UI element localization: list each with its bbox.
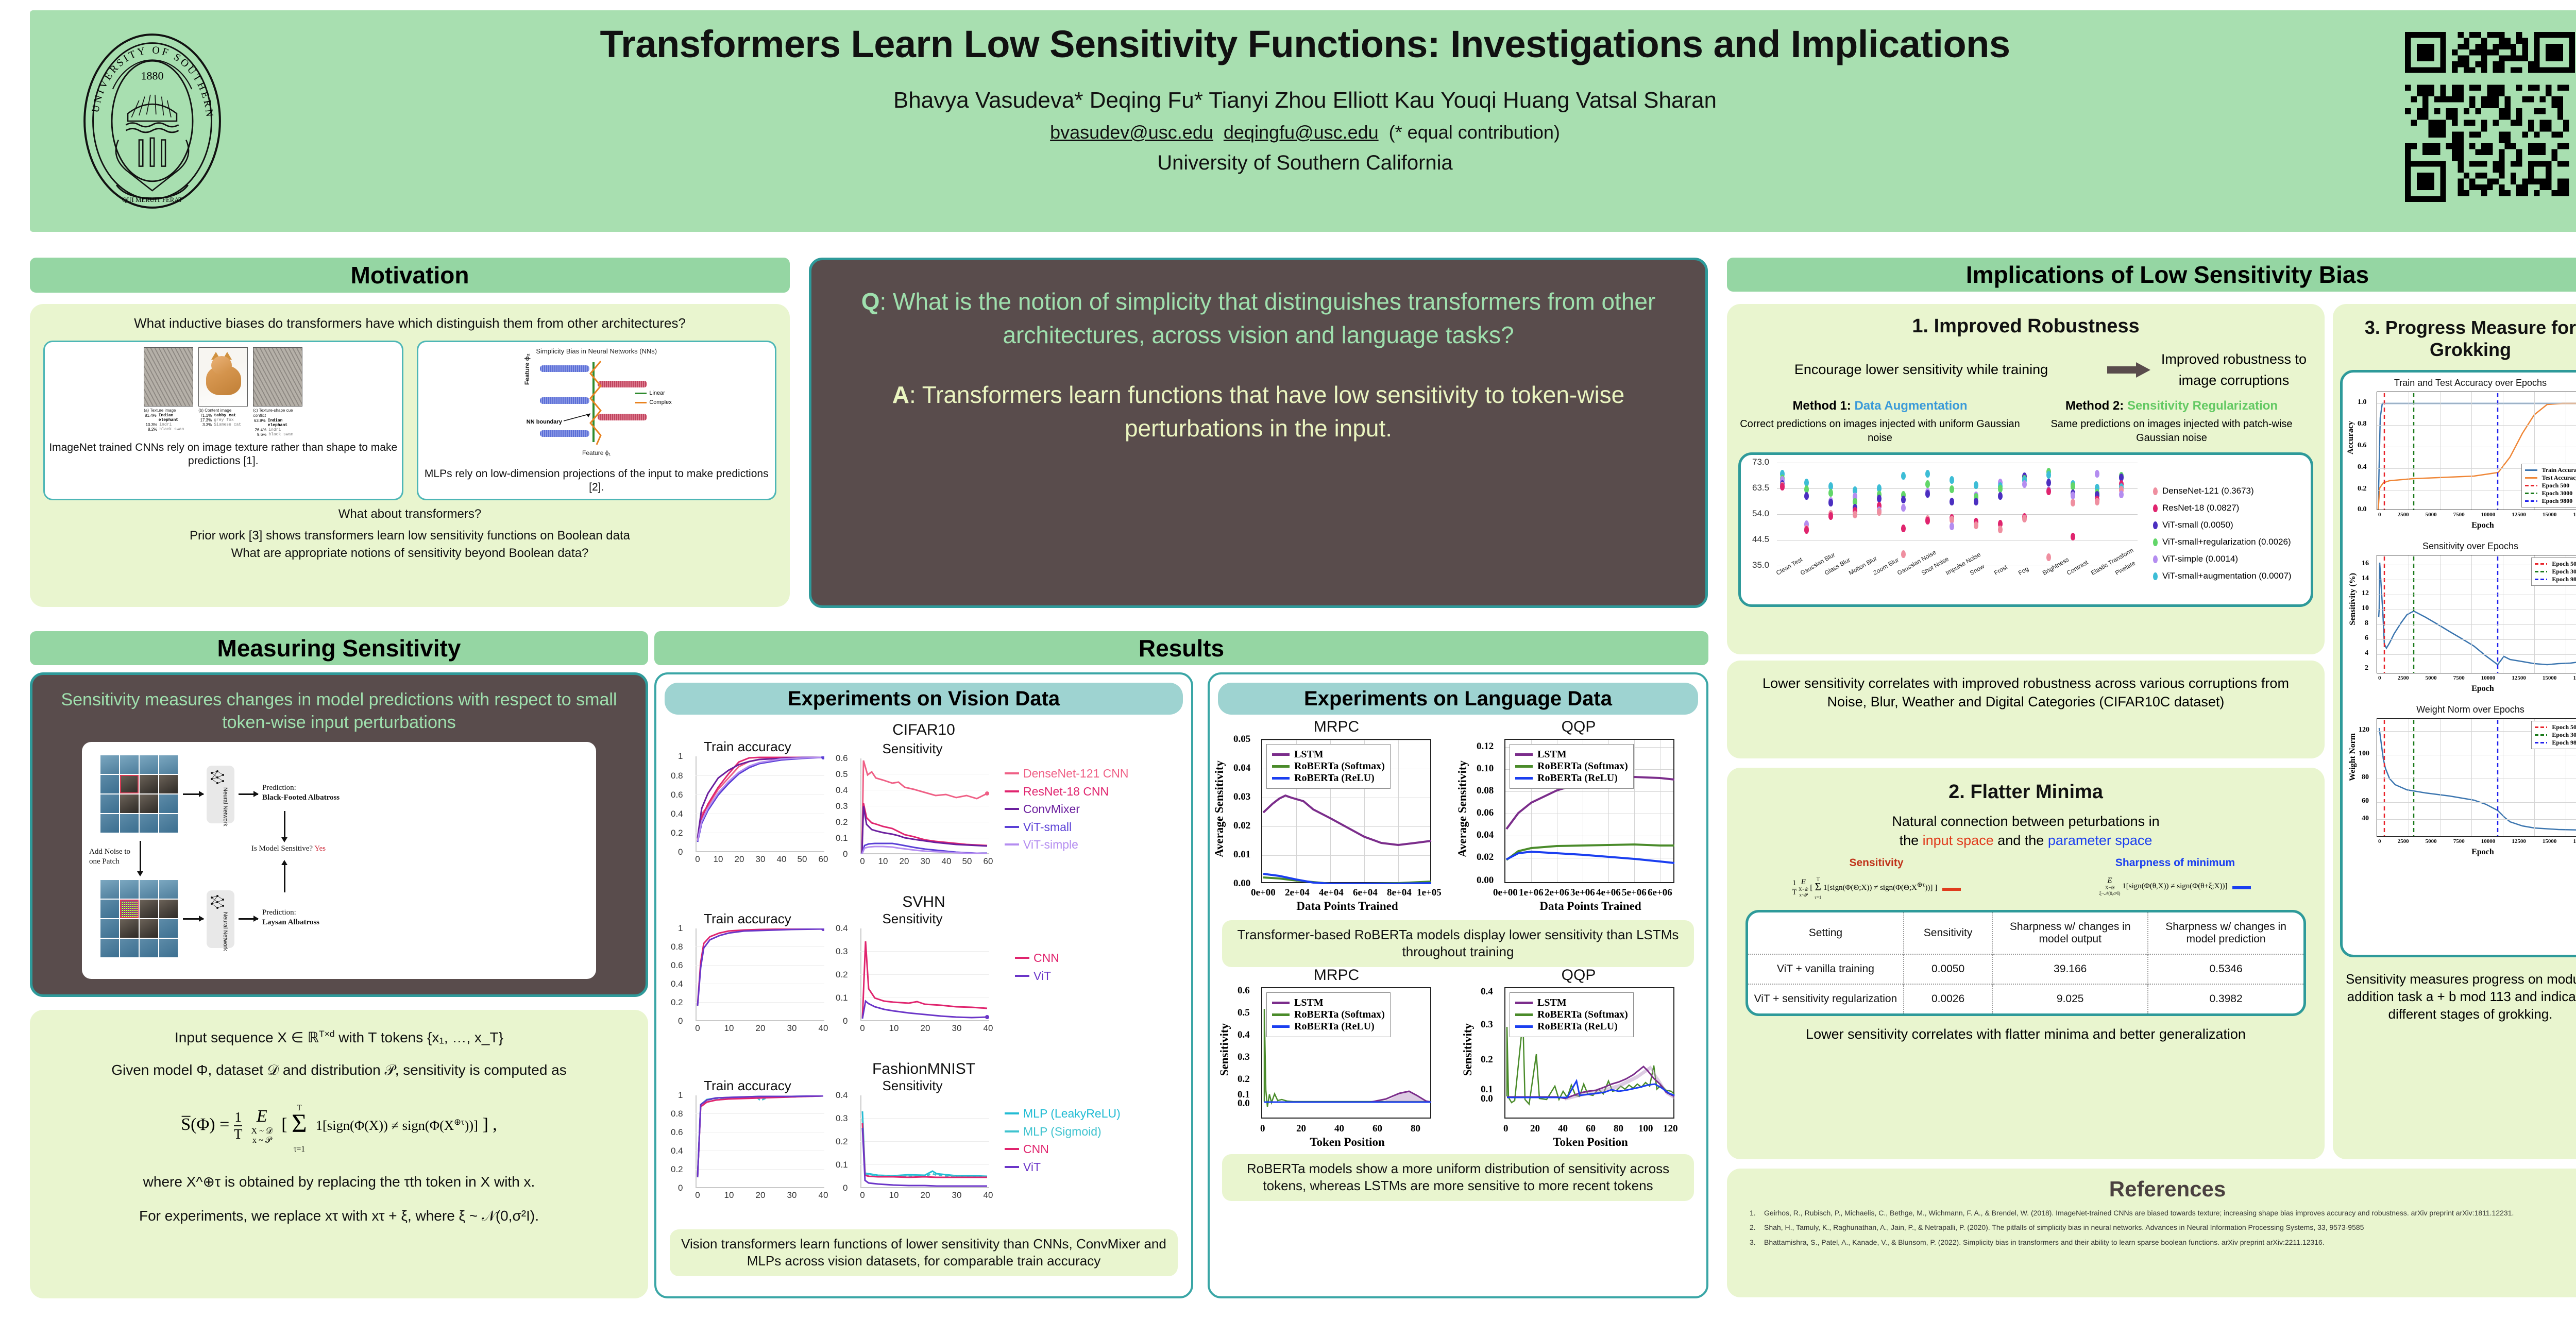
qqp-xlabel-2: Token Position <box>1505 1136 1675 1149</box>
legend-cnn: CNN <box>1023 1140 1049 1158</box>
neural-net-icon-1 <box>210 769 225 786</box>
email-link-1[interactable]: bvasudev@usc.edu <box>1050 122 1213 143</box>
grokking-note: Sensitivity measures progress on modular… <box>2333 957 2576 1023</box>
neural-net-icon-2 <box>210 893 225 911</box>
language-note-1: Transformer-based RoBERTa models display… <box>1222 920 1694 967</box>
legend-epoch-500: Epoch 500 <box>2542 482 2570 489</box>
grok-sens-xlabel: Epoch <box>2377 684 2576 694</box>
pred-name: black swan <box>159 427 184 432</box>
legend-vit-small-reg: ViT-small+regularization (0.0026) <box>2162 537 2291 547</box>
grok-sens-xticks: 025005000750010000125001500017500 <box>2377 675 2576 681</box>
cell-sharp-output: 9.025 <box>1992 984 2148 1013</box>
svg-text:QUI MERUIT FERAT: QUI MERUIT FERAT <box>122 196 182 204</box>
arrow-to-prediction-2 <box>239 918 258 920</box>
results-band: Results <box>654 631 1708 665</box>
triptych-label-c: (c) Texture-shape cue conflict <box>253 408 302 418</box>
qqp-ylabel-1: Average Sensitivity <box>1456 760 1469 857</box>
motivation-caption-1: ImageNet trained CNNs rely on image text… <box>49 441 398 468</box>
robustness-methods: Method 1: Data Augmentation Correct pred… <box>1727 391 2325 445</box>
flatter-lead-2a: the <box>1900 833 1923 848</box>
measuring-sensitivity-band: Measuring Sensitivity <box>30 631 648 665</box>
legend-roberta-relu: RoBERTa (ReLU) <box>1294 772 1375 784</box>
cifar10-sens-title: Sensitivity <box>838 741 987 757</box>
legend-epoch-3000: Epoch 3000 <box>2552 731 2576 739</box>
grok-wn-title: Weight Norm over Epochs <box>2347 704 2576 715</box>
vision-charts-area: CIFAR10 Train accuracy Sensitivity 0 0.2 <box>665 720 1183 1292</box>
flatter-minima-table: Setting Sensitivity Sharpness w/ changes… <box>1745 910 2306 1016</box>
dataset-title-fashionmnist: FashionMNIST <box>665 1060 1183 1078</box>
table-row: ViT + vanilla training 0.0050 39.166 0.5… <box>1748 954 2303 984</box>
qqp-token-sensitivity-plot: LSTM RoBERTa (Softmax) RoBERTa (ReLU) 0.… <box>1504 987 1674 1119</box>
add-noise-label: Add Noise to one Patch <box>89 847 137 867</box>
robustness-note-panel: Lower sensitivity correlates with improv… <box>1727 661 2325 758</box>
formula-line-1a: Input sequence X ∈ ℝ <box>175 1029 319 1045</box>
legend-resnet18: ResNet-18 (0.0827) <box>2162 503 2239 513</box>
sensitivity-headline: Sensitivity measures changes in model pr… <box>32 675 646 734</box>
research-answer: A: Transformers learn functions that hav… <box>840 378 1676 446</box>
robustness-result: Improved robustness to image corruptions <box>2157 349 2311 391</box>
legend-lstm: LSTM <box>1537 997 1567 1009</box>
motivation-band: Motivation <box>30 258 790 293</box>
simplicity-plot-area: Feature ϕ₂ NN boundary Linear <box>524 358 669 448</box>
legend-vit-simple: ViT-simple <box>1023 836 1078 854</box>
prediction-block-1: Prediction: Black-Footed Albatross <box>262 783 340 803</box>
references-panel: References 1.Geirhos, R., Rubisch, P., M… <box>1727 1169 2576 1297</box>
legend-epoch-500: Epoch 500 <box>2552 560 2576 568</box>
svhn-row: Train accuracy Sensitivity 0 0.20.4 0.60… <box>665 911 1183 1060</box>
qqp-legend-2: LSTM RoBERTa (Softmax) RoBERTa (ReLU) <box>1510 992 1634 1037</box>
grokking-title: 3. Progress Measure for Grokking <box>2333 304 2576 361</box>
simplicity-chart-title: Simplicity Bias in Neural Networks (NNs) <box>422 347 771 355</box>
sensitive-answer: Yes <box>314 844 326 853</box>
nn-boundary-annotation: NN boundary <box>527 419 562 425</box>
cifar10-sens-plot: 0 0.1 0.2 0.3 0.4 0.5 0.6 010 2030 4050 … <box>860 758 989 854</box>
legend-roberta-relu: RoBERTa (ReLU) <box>1294 1021 1375 1033</box>
motivation-card-simplicity: Simplicity Bias in Neural Networks (NNs)… <box>417 341 777 500</box>
svhn-train-title: Train accuracy <box>673 911 822 927</box>
legend-epoch-3000: Epoch 3000 <box>2552 568 2576 576</box>
motivation-caption-2: MLPs rely on low-dimension projections o… <box>422 467 771 495</box>
simplicity-legend: Linear Complex <box>635 390 671 409</box>
legend-roberta-relu: RoBERTa (ReLU) <box>1537 772 1618 784</box>
reference-text: Bhattamishra, S., Patel, A., Kanade, V.,… <box>1764 1237 2325 1247</box>
flatter-lead-1: Natural connection between peturbations … <box>1727 814 2325 830</box>
simplicity-bias-chart: Simplicity Bias in Neural Networks (NNs)… <box>422 347 771 463</box>
pred-name: Indian elephant <box>159 413 194 422</box>
references-title: References <box>1727 1169 2576 1202</box>
fm-train-title: Train accuracy <box>673 1078 822 1094</box>
mrpc-ylabel-1: Average Sensitivity <box>1213 760 1226 857</box>
method-2-desc: Same predictions on images injected with… <box>2031 417 2312 445</box>
pred-name: indri <box>159 422 172 427</box>
prediction-block-2: Prediction: Laysan Albatross <box>262 908 319 927</box>
grok-wn-xlabel: Epoch <box>2377 848 2576 857</box>
references-list: 1.Geirhos, R., Rubisch, P., Michaelis, C… <box>1727 1202 2576 1247</box>
arrow-to-network-2 <box>183 918 204 920</box>
legend-densenet121: DenseNet-121 CNN <box>1023 765 1129 783</box>
formula-line-2: Given model Φ, dataset 𝒟 and distributio… <box>50 1060 628 1080</box>
legend-densenet121: DenseNet-121 (0.3673) <box>2162 486 2254 496</box>
arrow-to-network-1 <box>183 793 204 795</box>
legend-cnn: CNN <box>1033 949 1059 967</box>
title-block: Transformers Learn Low Sensitivity Funct… <box>251 23 2359 175</box>
sensitivity-formula-panel: Input sequence X ∈ ℝT×d with T tokens {x… <box>30 1010 648 1298</box>
legend-resnet18: ResNet-18 CNN <box>1023 783 1109 801</box>
arrow-up-to-question <box>284 865 285 892</box>
legend-vit-simple: ViT-simple (0.0014) <box>2162 554 2238 564</box>
legend-epoch-9800: Epoch 9800 <box>2542 497 2573 505</box>
grokking-weight-norm-plot: Epoch 500 Epoch 3000 Epoch 9800 120 100 … <box>2377 718 2576 837</box>
flatter-note: Lower sensitivity correlates with flatte… <box>1727 1025 2325 1043</box>
author-list: Bhavya Vasudeva* Deqing Fu* Tianyi Zhou … <box>251 88 2359 113</box>
formula-line-1b: with T tokens {x₁, …, x_T} <box>335 1029 503 1045</box>
input-patch-grid-noisy <box>100 880 178 957</box>
reference-text: Geirhos, R., Rubisch, P., Michaelis, C.,… <box>1764 1208 2514 1218</box>
legend-label-complex: Complex <box>649 399 671 405</box>
cifar10c-robustness-chart: 73.0 63.5 54.0 44.5 35.0 Clean Test Gaus… <box>1738 452 2313 607</box>
legend-vit-small: ViT-small (0.0050) <box>2162 520 2233 530</box>
grok-sens-title: Sensitivity over Epochs <box>2347 541 2576 552</box>
legend-epoch-500: Epoch 500 <box>2552 723 2576 731</box>
legend-epoch-9800: Epoch 9800 <box>2552 739 2576 747</box>
legend-vit: ViT <box>1023 1158 1041 1176</box>
prediction-label-1: Prediction: <box>262 784 296 792</box>
method-1-name: Data Augmentation <box>1854 399 1967 413</box>
pred-name: tabby cat <box>214 413 236 418</box>
grok-wn-legend: Epoch 500 Epoch 3000 Epoch 9800 <box>2531 721 2576 749</box>
email-line: bvasudev@usc.edu deqingfu@usc.edu (* equ… <box>251 122 2359 143</box>
mrpc-legend-2: LSTM RoBERTa (Softmax) RoBERTa (ReLU) <box>1266 992 1391 1037</box>
research-question: Q: What is the notion of simplicity that… <box>840 285 1676 352</box>
language-note-2: RoBERTa models show a more uniform distr… <box>1222 1154 1694 1201</box>
grok-acc-xticks: 025005000750010000125001500017500 <box>2377 512 2576 518</box>
legend-convmixer: ConvMixer <box>1023 800 1080 818</box>
grok-acc-title: Train and Test Accuracy over Epochs <box>2347 378 2576 388</box>
pred-name: black swan <box>268 432 293 437</box>
complex-boundary <box>585 360 609 446</box>
legend-mlp-leakyrelu: MLP (LeakyReLU) <box>1023 1105 1121 1123</box>
pred-pct: 63.9% <box>253 418 265 428</box>
flatter-formula-row: Sensitivity 1T EX~𝒟x~𝒫 [ TΣτ=1 1[sign(Φ(… <box>1727 857 2325 902</box>
motivation-tail-2: Prior work [3] shows transformers learn … <box>30 528 790 544</box>
mrpc-title-1: MRPC <box>1233 718 1439 736</box>
robustness-note: Lower sensitivity correlates with improv… <box>1727 661 2325 725</box>
dataset-title-svhn: SVHN <box>665 893 1183 911</box>
grok-acc-legend: Train Accuracy Test Accuracy Epoch 500 E… <box>2521 464 2576 508</box>
grokking-panel: 3. Progress Measure for Grokking Train a… <box>2333 304 2576 1159</box>
svhn-train-plot: 0 0.20.4 0.60.8 1 010 2030 40 <box>696 928 824 1021</box>
legend-vit-small-aug: ViT-small+augmentation (0.0007) <box>2162 571 2292 581</box>
grok-sens-legend: Epoch 500 Epoch 3000 Epoch 9800 <box>2531 557 2576 586</box>
flatter-minima-panel: 2. Flatter Minima Natural connection bet… <box>1727 768 2325 1159</box>
grok-sens-ylabel: Sensitivity (%) <box>2348 573 2358 625</box>
formula-line-4: For experiments, we replace xτ with xτ +… <box>50 1206 628 1226</box>
fm-train-plot: 0 0.20.4 0.60.8 1 010 2030 40 <box>696 1095 824 1188</box>
input-patch-grid-clean <box>100 755 178 833</box>
vision-conclusion-note: Vision transformers learn functions of l… <box>670 1229 1178 1276</box>
grokking-accuracy-plot: Train Accuracy Test Accuracy Epoch 500 E… <box>2377 392 2576 510</box>
method-1: Method 1: Data Augmentation Correct pred… <box>1739 399 2021 445</box>
sensitivity-pipeline-figure: Neural Network Prediction: Black-Footed … <box>82 742 596 979</box>
a-text: : Transformers learn functions that have… <box>909 381 1624 442</box>
flatter-lead-2: the input space and the parameter space <box>1727 833 2325 849</box>
qqp-legend-1: LSTM RoBERTa (Softmax) RoBERTa (ReLU) <box>1510 744 1634 789</box>
pred-pct: 71.1% <box>198 413 212 418</box>
mrpc-xlabel-2: Token Position <box>1262 1136 1432 1149</box>
triptych-col-a: (a) Texture image 81.4%Indian elephant 1… <box>144 347 193 437</box>
pred-pct: 26.4% <box>253 428 266 432</box>
legend-vit-small: ViT-small <box>1023 818 1072 836</box>
pred-pct: 10.3% <box>144 422 157 427</box>
mrpc-xlabel-1: Data Points Trained <box>1262 900 1432 913</box>
fashionmnist-row: Train accuracy Sensitivity 0 0.20.4 0.60… <box>665 1078 1183 1227</box>
qqp-avg-sensitivity-plot: LSTM RoBERTa (Softmax) RoBERTa (ReLU) 0.… <box>1504 739 1674 883</box>
qqp-xlabel-1: Data Points Trained <box>1505 900 1675 913</box>
affiliation: University of Southern California <box>251 151 2359 175</box>
robustness-panel: 1. Improved Robustness Encourage lower s… <box>1727 304 2325 654</box>
a-prefix: A <box>892 381 909 408</box>
pred-pct: 81.4% <box>144 413 156 422</box>
th-sharpness-prediction: Sharpness w/ changes in model prediction <box>2148 912 2303 954</box>
fm-sens-title: Sensitivity <box>838 1078 987 1094</box>
pred-name: indri <box>268 428 281 432</box>
robustness-lead: Encourage lower sensitivity while traini… <box>1740 362 2102 378</box>
cell-sensitivity: 0.0026 <box>1904 984 1992 1013</box>
cifar10-train-plot: 0 0.2 0.4 0.6 0.8 1 010 2030 4050 60 <box>696 756 824 852</box>
measuring-sensitivity-panel: Sensitivity measures changes in model pr… <box>30 672 648 997</box>
equal-contribution-note: (* equal contribution) <box>1389 122 1560 143</box>
pred-name: Siamese cat <box>214 422 241 427</box>
reference-text: Shah, H., Tamuly, K., Raghunathan, A., J… <box>1764 1222 2364 1232</box>
right-arrow-icon <box>2107 361 2151 379</box>
robustness-xaxis-labels: Clean Test Gaussian Blur Glass Blur Moti… <box>1775 570 2146 606</box>
legend-epoch-3000: Epoch 3000 <box>2542 489 2573 497</box>
sensitivity-formula-label: Sensitivity <box>1727 857 2026 869</box>
flatter-parameter-space: parameter space <box>2048 833 2153 848</box>
method-1-desc: Correct predictions on images injected w… <box>1739 417 2021 445</box>
legend-roberta-softmax: RoBERTa (Softmax) <box>1537 760 1628 772</box>
cell-setting: ViT + sensitivity regularization <box>1748 984 1904 1013</box>
legend-lstm: LSTM <box>1537 749 1567 760</box>
legend-roberta-softmax: RoBERTa (Softmax) <box>1294 1009 1385 1021</box>
sensitivity-formula: 1T EX~𝒟x~𝒫 [ TΣτ=1 1[sign(Φ(Θ;X)) ≠ sign… <box>1727 874 2026 902</box>
implications-band: Implications of Low Sensitivity Bias <box>1727 258 2576 292</box>
qqp-ylabel-2: Sensitivity <box>1461 1023 1475 1076</box>
arrow-down-to-question <box>284 811 285 838</box>
grok-wn-ylabel: Weight Norm <box>2348 733 2358 781</box>
usc-seal: 1880 UNIVERSITY OF SOUTHERN CALIFORNIA Q… <box>58 23 246 219</box>
triptych-label-b: (b) Content image <box>198 408 248 413</box>
legend-train-accuracy: Train Accuracy <box>2542 466 2576 474</box>
pred-pct: 3.3% <box>198 422 212 427</box>
triptych-label-a: (a) Texture image <box>144 408 193 413</box>
q-prefix: Q <box>861 288 880 315</box>
legend-label-linear: Linear <box>649 390 665 396</box>
pred-name: grey fox <box>214 418 233 422</box>
cell-setting: ViT + vanilla training <box>1748 954 1904 984</box>
motivation-card-texture: (a) Texture image 81.4%Indian elephant 1… <box>43 341 403 500</box>
pred-pct: 17.3% <box>198 418 212 422</box>
prediction-value-2: Laysan Albatross <box>262 918 319 926</box>
cifar10-train-title: Train accuracy <box>673 739 822 755</box>
texture-triptych: (a) Texture image 81.4%Indian elephant 1… <box>49 347 398 437</box>
robustness-plot-area: 73.0 63.5 54.0 44.5 35.0 <box>1777 463 2138 566</box>
legend-roberta-relu: RoBERTa (ReLU) <box>1537 1021 1618 1033</box>
cifar10-legend: DenseNet-121 CNN ResNet-18 CNN ConvMixer… <box>1005 765 1129 854</box>
prediction-label-2: Prediction: <box>262 908 296 917</box>
mrpc-legend-1: LSTM RoBERTa (Softmax) RoBERTa (ReLU) <box>1266 744 1391 789</box>
qqp-title-2: QQP <box>1476 967 1682 984</box>
formula-line-1: Input sequence X ∈ ℝT×d with T tokens {x… <box>50 1027 628 1047</box>
cell-sharp-output: 39.166 <box>1992 954 2148 984</box>
neural-network-label-1: Neural Network <box>222 787 228 826</box>
svhn-legend: CNN ViT <box>1015 949 1059 985</box>
formula-line-3: where X^⊕τ is obtained by replacing the … <box>50 1172 628 1192</box>
fm-sens-plot: 0 0.10.2 0.30.4 010 2030 40 <box>860 1095 989 1188</box>
th-setting: Setting <box>1748 912 1904 954</box>
xlabel-fog: Fog <box>2017 565 2030 577</box>
legend-roberta-softmax: RoBERTa (Softmax) <box>1294 760 1385 772</box>
list-item: 1.Geirhos, R., Rubisch, P., Michaelis, C… <box>1750 1208 2576 1218</box>
list-item: 3.Bhattamishra, S., Patel, A., Kanade, V… <box>1750 1237 2576 1247</box>
cifar10-row: Train accuracy Sensitivity 0 0.2 0.4 <box>665 739 1183 893</box>
poster-header: 1880 UNIVERSITY OF SOUTHERN CALIFORNIA Q… <box>30 10 2576 232</box>
simplicity-ylabel: Feature ϕ₂ <box>523 353 531 385</box>
sharpness-formula: EX~𝒟ξ~𝒩(0,σ²I) 1[sign(Φ(θ,X)) ≠ sign(Φ(θ… <box>2026 876 2325 897</box>
motivation-tail-3: What are appropriate notions of sensitiv… <box>30 545 790 562</box>
formula-line-1-sup: T×d <box>319 1029 334 1039</box>
mrpc-avg-sensitivity-plot: LSTM RoBERTa (Softmax) RoBERTa (ReLU) 0.… <box>1261 739 1431 883</box>
flatter-input-space: input space <box>1923 833 1994 848</box>
cell-sharp-pred: 0.3982 <box>2148 984 2303 1013</box>
table-row: ViT + sensitivity regularization 0.0026 … <box>1748 984 2303 1013</box>
grok-acc-xlabel: Epoch <box>2377 521 2576 530</box>
fashionmnist-legend: MLP (LeakyReLU) MLP (Sigmoid) CNN ViT <box>1005 1105 1121 1176</box>
qqp-title-1: QQP <box>1476 718 1682 736</box>
pred-name: Indian elephant <box>268 418 303 428</box>
poster-root: 1880 UNIVERSITY OF SOUTHERN CALIFORNIA Q… <box>0 0 2576 1319</box>
triptych-col-c: (c) Texture-shape cue conflict 63.9%Indi… <box>253 347 302 437</box>
texture-image <box>144 347 193 407</box>
list-item: 2.Shah, H., Tamuly, K., Raghunathan, A.,… <box>1750 1222 2576 1232</box>
legend-mlp-sigmoid: MLP (Sigmoid) <box>1023 1123 1101 1141</box>
svhn-sens-plot: 0 0.10.2 0.30.4 010 2030 40 <box>860 928 989 1021</box>
language-row-2: MRPC QQP LSTM RoBERTa (Softmax) RoBERTa … <box>1218 969 1698 1190</box>
q-text: : What is the notion of simplicity that … <box>879 288 1655 348</box>
flatter-lead-2b: and the <box>1994 833 2048 848</box>
mrpc-token-sensitivity-plot: LSTM RoBERTa (Softmax) RoBERTa (ReLU) 0.… <box>1261 987 1431 1119</box>
grokking-sensitivity-plot: Epoch 500 Epoch 3000 Epoch 9800 16 14 12… <box>2377 555 2576 673</box>
motivation-tail-1: What about transformers? <box>30 505 790 523</box>
motivation-cards: (a) Texture image 81.4%Indian elephant 1… <box>30 331 790 500</box>
flatter-title: 2. Flatter Minima <box>1727 768 2325 803</box>
legend-lstm: LSTM <box>1294 997 1324 1009</box>
th-sensitivity: Sensitivity <box>1904 912 1992 954</box>
grok-acc-ylabel: Accuracy <box>2346 421 2355 454</box>
mrpc-title-2: MRPC <box>1233 967 1439 984</box>
dataset-title-cifar10: CIFAR10 <box>665 721 1183 739</box>
motivation-question: What inductive biases do transformers ha… <box>30 304 790 331</box>
table-header-row: Setting Sensitivity Sharpness w/ changes… <box>1748 912 2303 954</box>
sensitivity-equation: S̅(Φ) = 1T EX ~ 𝒟x ~ 𝒫 [ TΣτ=1 1[sign(Φ(… <box>50 1095 628 1156</box>
vision-sub-band: Experiments on Vision Data <box>665 683 1183 715</box>
neural-network-label-2: Neural Network <box>222 912 228 951</box>
sensitive-question: Is Model Sensitive? <box>251 844 313 853</box>
grok-wn-xticks: 025005000750010000125001500017500 <box>2377 838 2576 844</box>
grokking-charts: Train and Test Accuracy over Epochs Trai… <box>2340 370 2576 957</box>
robustness-lead-row: Encourage lower sensitivity while traini… <box>1727 337 2325 391</box>
prediction-value-1: Black-Footed Albatross <box>262 793 340 802</box>
svhn-sens-title: Sensitivity <box>838 911 987 927</box>
pred-pct: 8.2% <box>144 427 157 432</box>
language-row-1: MRPC QQP LSTM RoBERTa (Softmax) RoBERTa … <box>1218 720 1698 937</box>
arrow-add-noise <box>140 841 141 872</box>
th-sharpness-output: Sharpness w/ changes in model output <box>1992 912 2148 954</box>
robustness-legend: DenseNet-121 (0.3673) ResNet-18 (0.0827)… <box>2153 486 2292 581</box>
method-2-name: Sensitivity Regularization <box>2127 399 2278 413</box>
language-charts-area: MRPC QQP LSTM RoBERTa (Softmax) RoBERTa … <box>1218 720 1698 1292</box>
language-sub-band: Experiments on Language Data <box>1218 683 1698 715</box>
legend-epoch-9800: Epoch 9800 <box>2552 576 2576 583</box>
motivation-panel: What inductive biases do transformers ha… <box>30 304 790 607</box>
question-answer-panel: Q: What is the notion of simplicity that… <box>809 258 1708 608</box>
pred-pct: 9.6% <box>253 432 266 437</box>
method-2-label: Method 2: <box>2065 399 2124 413</box>
method-2: Method 2: Sensitivity Regularization Sam… <box>2031 399 2312 445</box>
page-title: Transformers Learn Low Sensitivity Funct… <box>251 23 2359 65</box>
mrpc-ylabel-2: Sensitivity <box>1218 1023 1231 1076</box>
arrow-to-prediction-1 <box>239 793 258 795</box>
legend-roberta-softmax: RoBERTa (Softmax) <box>1537 1009 1628 1021</box>
cue-conflict-image <box>253 347 302 407</box>
legend-vit: ViT <box>1033 967 1051 985</box>
cell-sharp-pred: 0.5346 <box>2148 954 2303 984</box>
triptych-col-b: (b) Content image 71.1%tabby cat 17.3%gr… <box>198 347 248 437</box>
email-link-2[interactable]: deqingfu@usc.edu <box>1224 122 1379 143</box>
simplicity-xlabel: Feature ϕ₁ <box>422 449 771 456</box>
content-image <box>198 347 248 407</box>
sensitivity-question-block: Is Model Sensitive? Yes <box>240 844 337 854</box>
legend-lstm: LSTM <box>1294 749 1324 760</box>
sharpness-formula-label: Sharpness of minimum <box>2026 857 2325 869</box>
method-1-label: Method 1: <box>1792 399 1851 413</box>
cell-sensitivity: 0.0050 <box>1904 954 1992 984</box>
robustness-title: 1. Improved Robustness <box>1727 304 2325 337</box>
legend-test-accuracy: Test Accuracy <box>2542 474 2576 482</box>
qr-code[interactable] <box>2405 32 2575 202</box>
svg-text:1880: 1880 <box>141 70 164 82</box>
